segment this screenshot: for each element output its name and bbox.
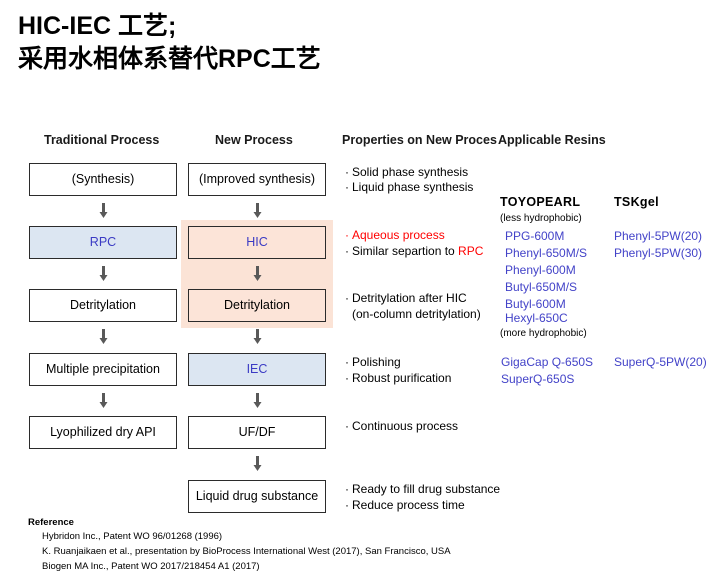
reference-item: Biogen MA Inc., Patent WO 2017/218454 A1…	[28, 559, 668, 574]
reference-item: K. Ruanjaikaen et al., presentation by B…	[28, 544, 668, 559]
down-arrow-icon	[252, 266, 263, 282]
resin-tskgel-phenyl-5pw-30[interactable]: Phenyl-5PW(30)	[614, 246, 702, 260]
property-ready-to-fill: ·Ready to fill drug substance	[345, 482, 500, 497]
bullet-icon: ·	[345, 291, 349, 305]
new-step-hic[interactable]: HIC	[188, 226, 326, 259]
down-arrow-icon	[252, 393, 263, 409]
bullet-icon: ·	[345, 228, 349, 242]
resin-toyopearl-gigacap-q-650s[interactable]: GigaCap Q-650S	[501, 355, 593, 369]
bullet-icon: ·	[345, 498, 349, 512]
down-arrow-icon	[98, 329, 109, 345]
property-continuous-process: ·Continuous process	[345, 419, 458, 434]
resin-tskgel-superq-5pw-20[interactable]: SuperQ-5PW(20)	[614, 355, 707, 369]
bullet-icon: ·	[345, 355, 349, 369]
resin-toyopearl-hexyl-650c[interactable]: Hexyl-650C	[505, 311, 568, 325]
reference-title: Reference	[28, 516, 668, 529]
property-on-column-detritylation: (on-column detritylation)	[352, 307, 481, 322]
resin-note-less-hydrophobic: (less hydrophobic)	[500, 213, 582, 224]
bullet-icon: ·	[345, 482, 349, 496]
bullet-icon: ·	[345, 165, 349, 179]
bullet-icon: ·	[345, 419, 349, 433]
resin-toyopearl-phenyl-650ms[interactable]: Phenyl-650M/S	[505, 246, 587, 260]
down-arrow-icon	[98, 393, 109, 409]
down-arrow-icon	[98, 203, 109, 219]
resin-toyopearl-superq-650s[interactable]: SuperQ-650S	[501, 372, 574, 386]
property-aqueous-process: ·Aqueous process	[345, 228, 445, 243]
property-solid-phase-synthesis: ·Solid phase synthesis	[345, 165, 468, 180]
reference-section: Reference Hybridon Inc., Patent WO 96/01…	[28, 516, 668, 574]
reference-item: Hybridon Inc., Patent WO 96/01268 (1996)	[28, 529, 668, 544]
down-arrow-icon	[98, 266, 109, 282]
property-similar-separation: ·Similar separtion to RPC	[345, 244, 483, 259]
new-step-liquid-drug-substance[interactable]: Liquid drug substance	[188, 480, 326, 513]
page-title-line-1: HIC-IEC 工艺;	[18, 10, 708, 43]
resin-toyopearl-butyl-650ms[interactable]: Butyl-650M/S	[505, 280, 577, 294]
resin-tskgel-phenyl-5pw-20[interactable]: Phenyl-5PW(20)	[614, 229, 702, 243]
resin-toyopearl-ppg-600m[interactable]: PPG-600M	[505, 229, 564, 243]
property-robust-purification: ·Robust purification	[345, 371, 451, 386]
bullet-icon: ·	[345, 180, 349, 194]
new-step-detritylation[interactable]: Detritylation	[188, 289, 326, 322]
resin-note-more-hydrophobic: (more hydrophobic)	[500, 328, 587, 339]
down-arrow-icon	[252, 329, 263, 345]
property-detritylation-after-hic: ·Detritylation after HIC	[345, 291, 467, 306]
property-liquid-phase-synthesis: ·Liquid phase synthesis	[345, 180, 473, 195]
down-arrow-icon	[252, 203, 263, 219]
traditional-step-detritylation[interactable]: Detritylation	[29, 289, 177, 322]
traditional-step-multiple-precipitation[interactable]: Multiple precipitation	[29, 353, 177, 386]
page-title-line-2: 采用水相体系替代RPC工艺	[18, 43, 708, 76]
column-header-traditional-process: Traditional Process	[44, 133, 159, 147]
property-reduce-process-time: ·Reduce process time	[345, 498, 465, 513]
bullet-icon: ·	[345, 244, 349, 258]
column-header-new-process: New Process	[215, 133, 293, 147]
traditional-step-synthesis[interactable]: (Synthesis)	[29, 163, 177, 196]
traditional-step-rpc[interactable]: RPC	[29, 226, 177, 259]
resin-brand-toyopearl: TOYOPEARL	[500, 195, 580, 209]
resin-brand-tskgel: TSKgel	[614, 195, 659, 209]
new-step-ufdf[interactable]: UF/DF	[188, 416, 326, 449]
traditional-step-lyophilized-dry-api[interactable]: Lyophilized dry API	[29, 416, 177, 449]
page-title: HIC-IEC 工艺; 采用水相体系替代RPC工艺	[18, 10, 708, 76]
bullet-icon: ·	[345, 371, 349, 385]
resin-toyopearl-butyl-600m[interactable]: Butyl-600M	[505, 297, 566, 311]
new-step-iec[interactable]: IEC	[188, 353, 326, 386]
resin-toyopearl-phenyl-600m[interactable]: Phenyl-600M	[505, 263, 576, 277]
down-arrow-icon	[252, 456, 263, 472]
column-header-properties: Properties on New Process	[342, 133, 497, 147]
new-step-improved-synthesis[interactable]: (Improved synthesis)	[188, 163, 326, 196]
column-header-applicable-resins: Applicable Resins	[497, 133, 606, 147]
property-polishing: ·Polishing	[345, 355, 401, 370]
